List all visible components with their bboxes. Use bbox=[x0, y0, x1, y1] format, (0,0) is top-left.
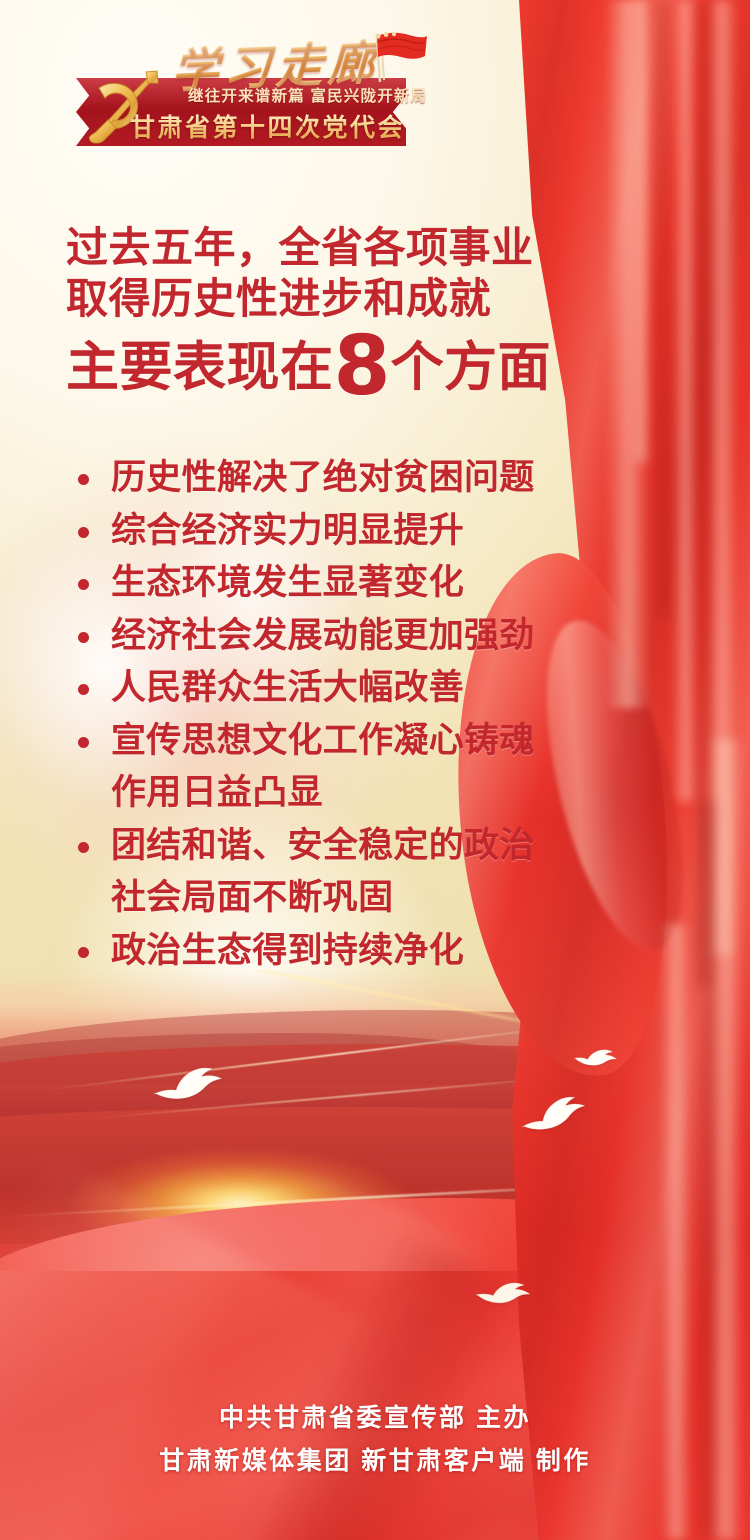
list-item: 综合经济实力明显提升 bbox=[78, 508, 638, 555]
title-line-1: 过去五年，全省各项事业 bbox=[66, 222, 551, 273]
list-item: 经济社会发展动能更加强劲 bbox=[78, 613, 638, 660]
title-line-2: 取得历史性进步和成就 bbox=[66, 273, 551, 324]
list-item: 团结和谐、安全稳定的政治 bbox=[78, 823, 638, 870]
bullet-dot-icon bbox=[78, 737, 89, 748]
list-item: 政治生态得到持续净化 bbox=[78, 928, 638, 975]
list-item-label: 作用日益凸显 bbox=[111, 770, 323, 817]
title-line-3-prefix: 主要表现在 bbox=[66, 338, 334, 397]
footer-line-1: 中共甘肃省委宣传部 主办 bbox=[0, 1397, 750, 1441]
list-item-label: 宣传思想文化工作凝心铸魂 bbox=[111, 718, 535, 765]
bullet-dot-icon bbox=[78, 947, 89, 958]
poster-root: 学习走廊 继往开来谱新篇 富民兴陇开新局 甘肃省第十四次党代会 过去五年，全省各… bbox=[0, 0, 750, 1540]
header-logo-banner: 学习走廊 继往开来谱新篇 富民兴陇开新局 甘肃省第十四次党代会 bbox=[62, 26, 422, 166]
dove-icon bbox=[570, 1037, 626, 1075]
dove-icon bbox=[471, 1268, 541, 1313]
banner-subtitle: 继往开来谱新篇 富民兴陇开新局 bbox=[188, 84, 427, 106]
list-item: 生态环境发生显著变化 bbox=[78, 560, 638, 607]
list-item-continuation: 作用日益凸显 bbox=[78, 770, 638, 817]
list-item-label: 经济社会发展动能更加强劲 bbox=[111, 613, 535, 660]
key-points-list: 历史性解决了绝对贫困问题 综合经济实力明显提升 生态环境发生显著变化 经济社会发… bbox=[78, 455, 638, 980]
title-line-3: 主要表现在8个方面 bbox=[66, 338, 551, 397]
list-item-label: 人民群众生活大幅改善 bbox=[111, 665, 464, 712]
list-item-label: 综合经济实力明显提升 bbox=[111, 508, 464, 555]
bullet-dot-icon bbox=[78, 842, 89, 853]
banner-event-title: 甘肃省第十四次党代会 bbox=[130, 108, 405, 144]
bullet-dot-icon bbox=[78, 474, 89, 485]
bullet-dot-icon bbox=[78, 579, 89, 590]
bullet-dot-icon bbox=[78, 632, 89, 643]
footer-line-2: 甘肃新媒体集团 新甘肃客户端 制作 bbox=[0, 1440, 750, 1484]
list-item: 历史性解决了绝对贫困问题 bbox=[78, 455, 638, 502]
list-item: 宣传思想文化工作凝心铸魂 bbox=[78, 718, 638, 765]
list-item: 人民群众生活大幅改善 bbox=[78, 665, 638, 712]
title-line-3-suffix: 个方面 bbox=[391, 338, 552, 397]
red-flag-icon bbox=[367, 30, 429, 91]
footer-credits: 中共甘肃省委宣传部 主办 甘肃新媒体集团 新甘肃客户端 制作 bbox=[0, 1397, 750, 1485]
bullet-dot-icon bbox=[78, 684, 89, 695]
page-title: 过去五年，全省各项事业 取得历史性进步和成就 主要表现在8个方面 bbox=[66, 222, 551, 398]
bullet-dot-spacer bbox=[78, 894, 89, 905]
bullet-dot-spacer bbox=[78, 789, 89, 800]
list-item-label: 历史性解决了绝对贫困问题 bbox=[111, 455, 535, 502]
highlight-number: 8 bbox=[334, 319, 391, 414]
bullet-dot-icon bbox=[78, 527, 89, 538]
list-item-label: 团结和谐、安全稳定的政治 bbox=[111, 823, 535, 870]
list-item-label: 政治生态得到持续净化 bbox=[111, 928, 464, 975]
list-item-label: 生态环境发生显著变化 bbox=[111, 560, 464, 607]
list-item-label: 社会局面不断巩固 bbox=[111, 875, 393, 922]
list-item-continuation: 社会局面不断巩固 bbox=[78, 875, 638, 922]
